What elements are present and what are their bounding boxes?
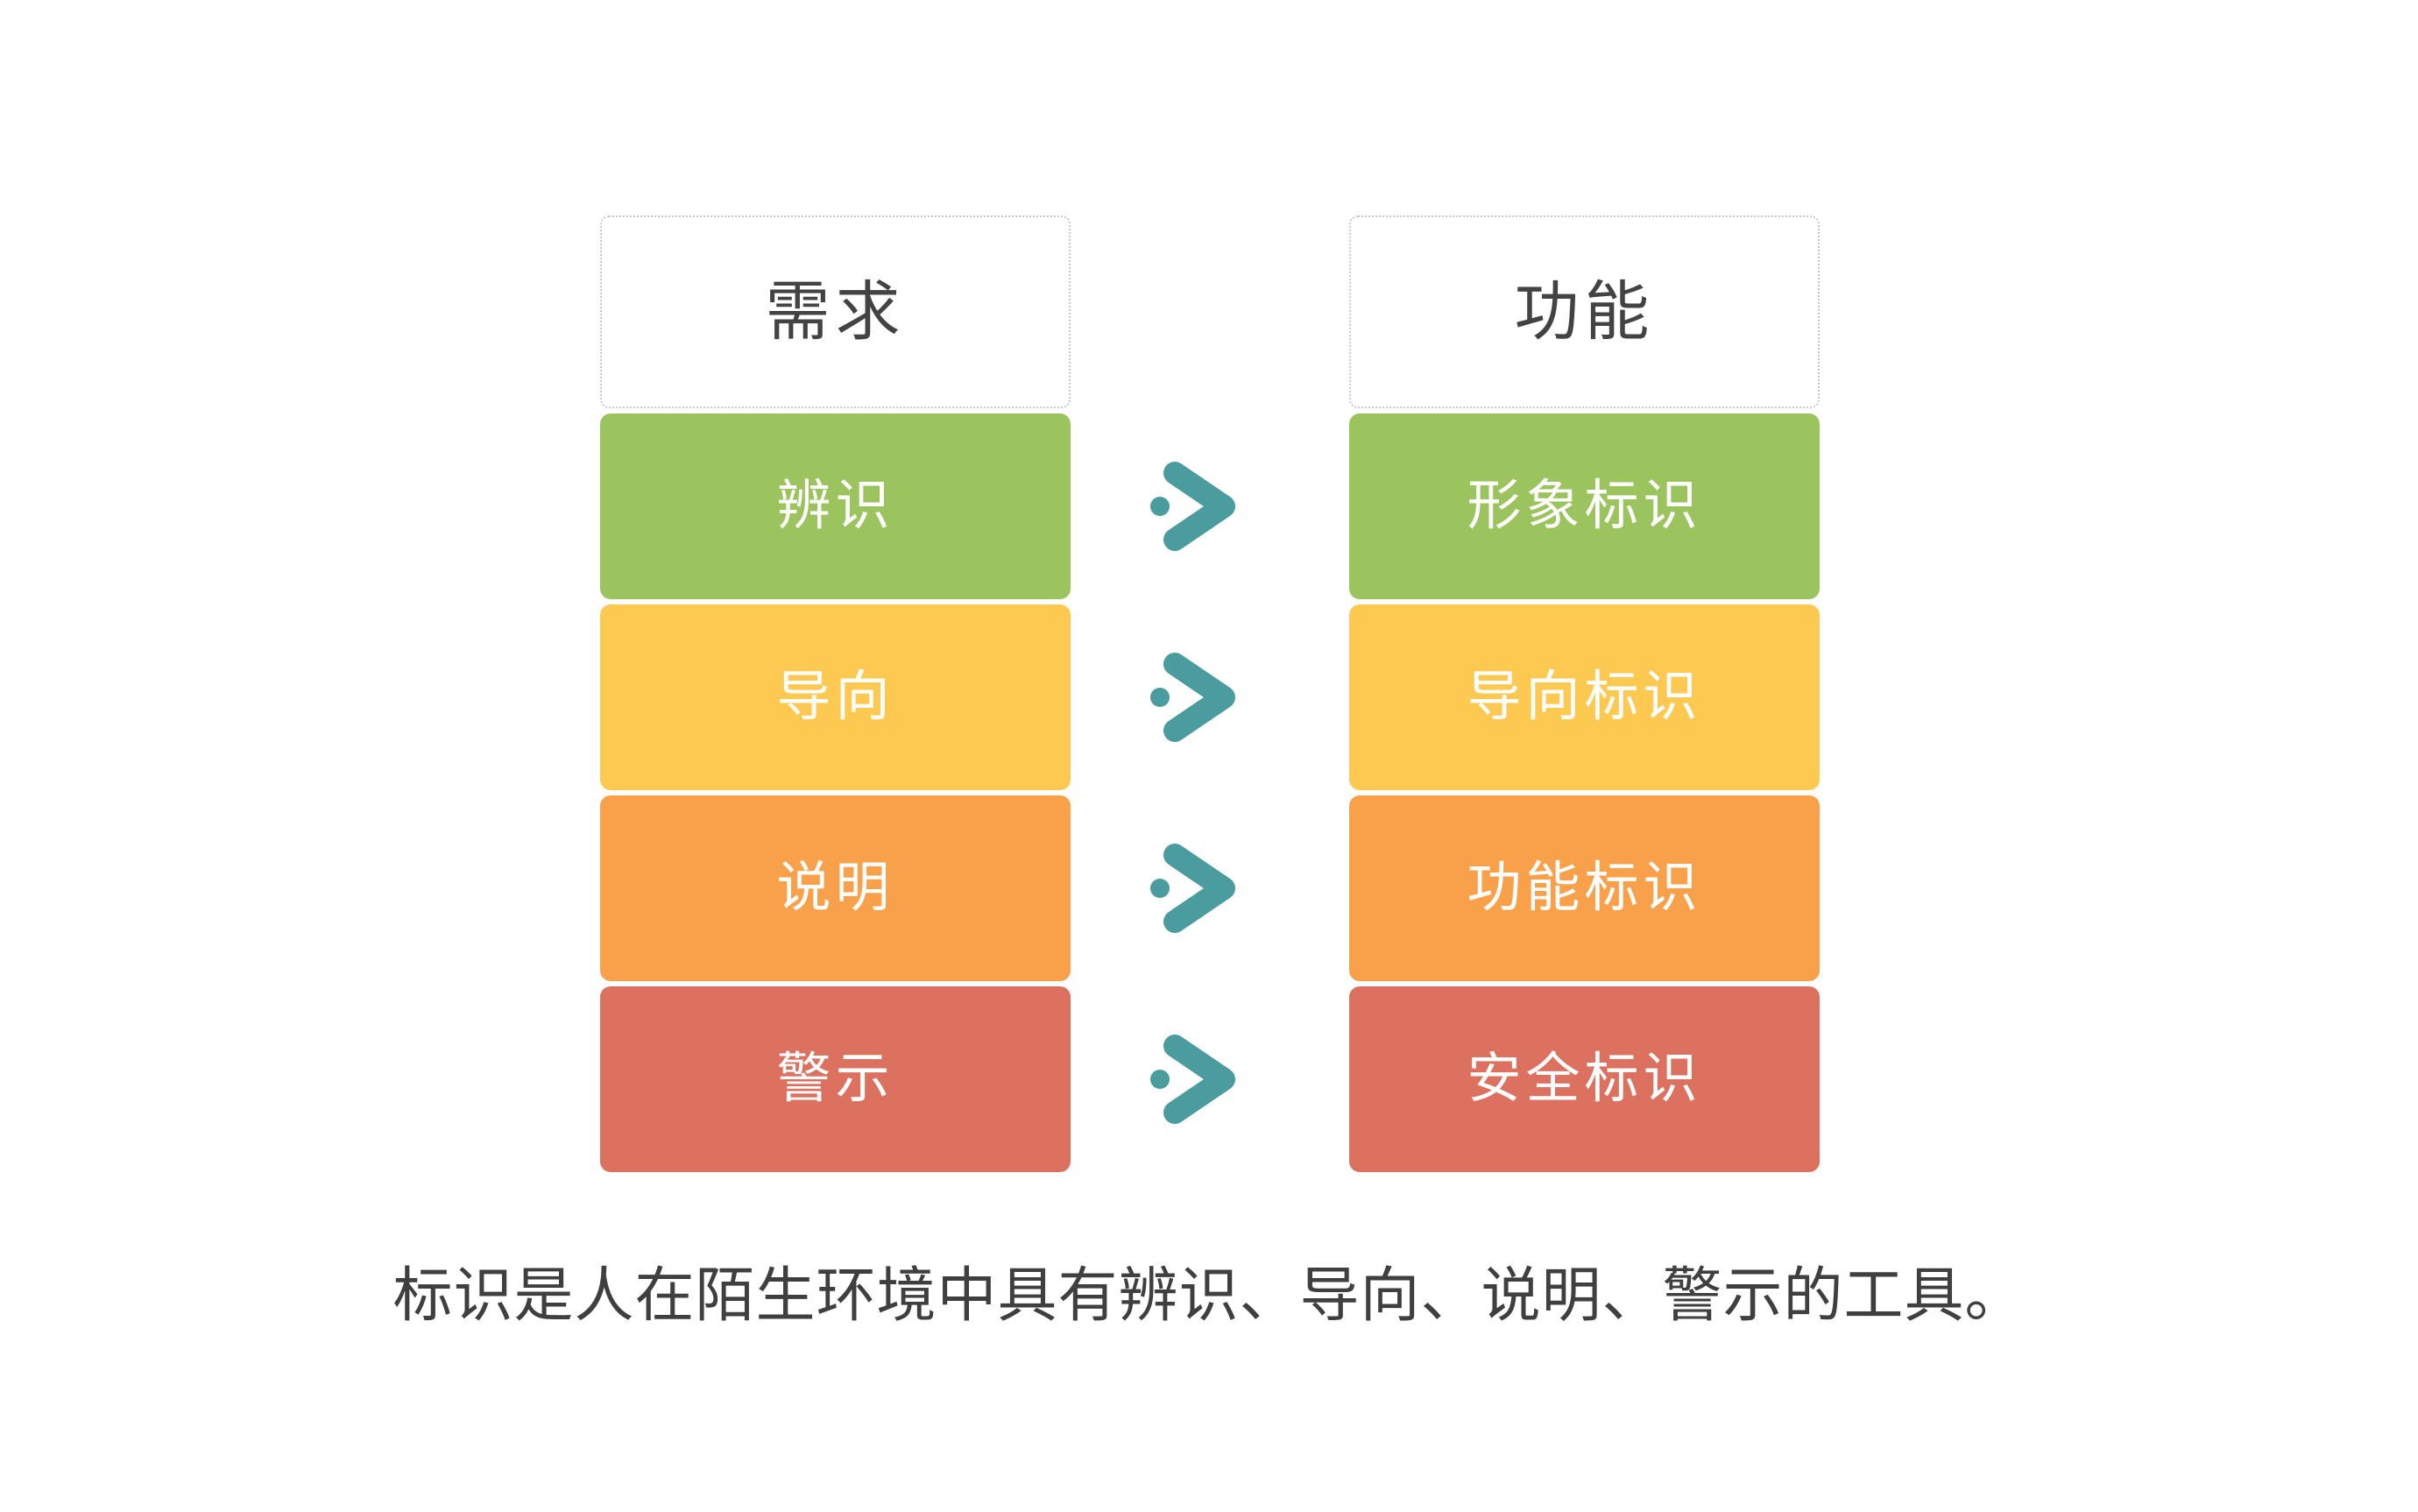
block-label: 辨识 (776, 479, 894, 533)
block-requirement-3[interactable]: 说明 (600, 795, 1071, 981)
column-header-requirement: 需求 (600, 215, 1071, 408)
block-function-3[interactable]: 功能标识 (1349, 795, 1820, 981)
column-function: 功能 形象标识 导向标识 功能标识 安全标识 (1349, 215, 1820, 1170)
caption-text: 标识是人在陌生环境中具有辨识、导向、说明、警示的工具。 (392, 1262, 2025, 1329)
block-label: 警示 (776, 1052, 894, 1106)
chevron-right-icon (1143, 1027, 1248, 1132)
column-header-function: 功能 (1349, 215, 1820, 408)
block-label: 说明 (776, 861, 894, 915)
requirement-function-mapping-diagram: 需求 辨识 导向 说明 警示 (600, 215, 1820, 1170)
block-label: 功能标识 (1467, 861, 1701, 915)
column-requirement: 需求 辨识 导向 说明 警示 (600, 215, 1071, 1170)
block-label: 形象标识 (1467, 479, 1701, 533)
block-label: 导向 (776, 670, 894, 724)
chevron-right-icon (1143, 836, 1248, 941)
slide-canvas: 需求 辨识 导向 说明 警示 (0, 0, 2418, 1512)
block-function-2[interactable]: 导向标识 (1349, 604, 1820, 790)
block-function-1[interactable]: 形象标识 (1349, 413, 1820, 599)
chevron-right-icon (1143, 454, 1248, 559)
block-label: 安全标识 (1467, 1052, 1701, 1106)
column-header-label: 需求 (766, 279, 906, 344)
block-requirement-1[interactable]: 辨识 (600, 413, 1071, 599)
block-requirement-4[interactable]: 警示 (600, 986, 1071, 1172)
diagram-caption: 标识是人在陌生环境中具有辨识、导向、说明、警示的工具。 (0, 1259, 2418, 1333)
column-header-label: 功能 (1515, 279, 1655, 344)
chevron-right-icon (1143, 645, 1248, 750)
block-requirement-2[interactable]: 导向 (600, 604, 1071, 790)
block-label: 导向标识 (1467, 670, 1701, 724)
block-function-4[interactable]: 安全标识 (1349, 986, 1820, 1172)
